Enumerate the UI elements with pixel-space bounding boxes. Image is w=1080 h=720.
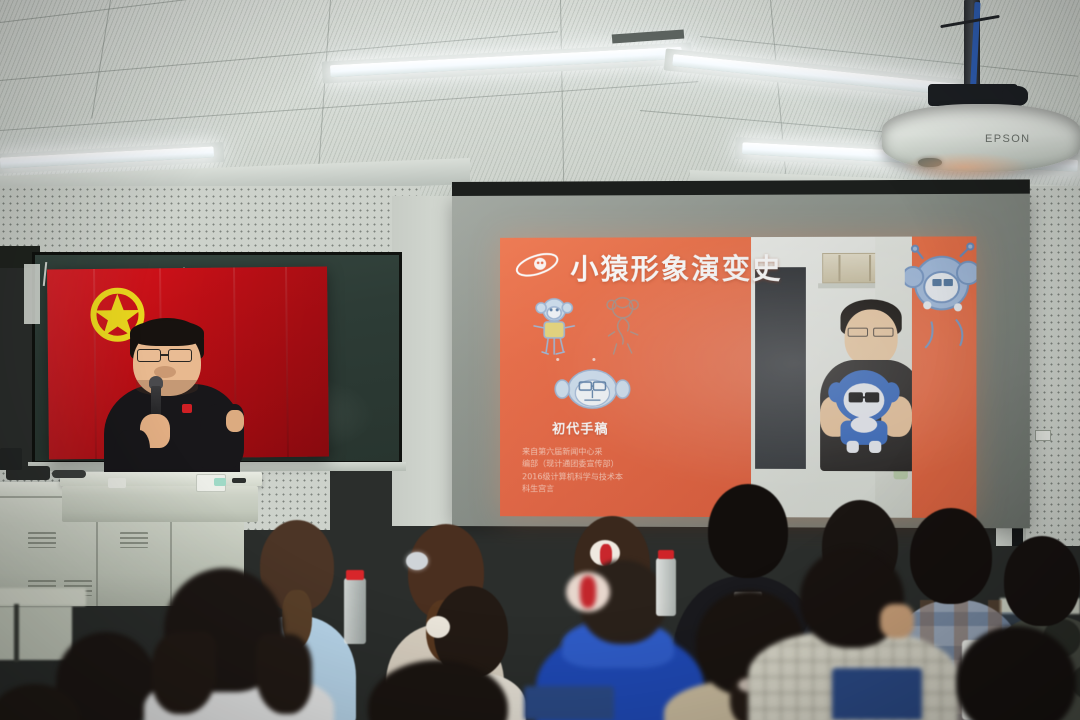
slide-credit-line: 来自第六届新闻中心采 bbox=[522, 446, 638, 459]
desk-sticker bbox=[214, 478, 226, 486]
video-person-glasses-left bbox=[848, 328, 868, 337]
presenter-glasses-left-lens bbox=[137, 349, 161, 362]
red-hair-tie bbox=[580, 576, 596, 608]
bottle-cap-red-2 bbox=[658, 550, 674, 559]
student-desk-left-leg bbox=[14, 604, 19, 662]
slide-credit-line: 2016级计算机科学与技术本 bbox=[522, 471, 638, 484]
lecture-hall-photo: EPSON bbox=[0, 0, 1080, 720]
sketch-monkey-line bbox=[600, 294, 644, 356]
student-front-bottom-center bbox=[368, 660, 508, 720]
hair-clip bbox=[406, 552, 428, 570]
video-person-glasses-right bbox=[873, 328, 893, 337]
desk-remote[interactable] bbox=[232, 478, 246, 483]
student-front-right bbox=[956, 626, 1080, 720]
desk-cable bbox=[52, 470, 86, 478]
projector-cable-bundle bbox=[1002, 86, 1028, 106]
slide-dot bbox=[592, 358, 595, 361]
chair-back-left bbox=[524, 686, 614, 720]
video-person bbox=[814, 299, 911, 471]
projector-lens-glow bbox=[900, 152, 1030, 182]
slide-credit-line: 科生宫言 bbox=[522, 483, 638, 496]
student-head-hair bbox=[0, 684, 80, 720]
student-desk-left bbox=[0, 588, 86, 606]
presenter-hand-on-hip bbox=[226, 410, 244, 432]
slide-caption: 初代手稿 bbox=[552, 418, 608, 437]
plush-monkey-with-glasses bbox=[828, 366, 899, 455]
desk-monitor-edge bbox=[0, 448, 22, 470]
projection-screen-roller bbox=[452, 179, 1030, 196]
slide-dot bbox=[556, 358, 559, 361]
presenter-glasses-right-lens bbox=[168, 349, 192, 362]
student-long-dark-hair-left bbox=[134, 568, 334, 720]
video-person-head bbox=[845, 309, 898, 366]
student-ear bbox=[880, 604, 914, 638]
scrunchie bbox=[426, 616, 450, 638]
student-bottom-left-corner bbox=[0, 684, 80, 720]
student-hair-left-fall bbox=[152, 632, 216, 714]
water-bottle-white[interactable] bbox=[656, 558, 676, 616]
sketch-monkey-color bbox=[526, 296, 582, 358]
presentation-slide: 小猿形象演变史 bbox=[500, 236, 976, 518]
presenter-glasses-bridge bbox=[160, 354, 169, 356]
mascot-monkey-blue bbox=[905, 242, 977, 353]
red-lapel-badge bbox=[182, 404, 192, 413]
presenter-hair-front bbox=[130, 320, 204, 346]
chair-back-right bbox=[832, 668, 922, 720]
student-head-hair bbox=[368, 660, 508, 720]
projection-screen: 小猿形象演变史 bbox=[452, 194, 1030, 529]
bottle-cap-red bbox=[346, 570, 364, 580]
slide-title: 小猿形象演变史 bbox=[570, 247, 782, 288]
student-head-hair bbox=[1004, 536, 1080, 626]
teacher-desk-front bbox=[62, 486, 258, 522]
presenter-chin-shadow bbox=[136, 380, 198, 396]
yuan-orbit-logo bbox=[514, 252, 560, 278]
video-doorway bbox=[755, 267, 806, 469]
slide-credit-block: 来自第六届新闻中心采 编部（现计通团委宣传部） 2016级计算机科学与技术本 科… bbox=[522, 446, 638, 496]
desk-paper-small bbox=[108, 478, 126, 488]
sketch-monkey-face bbox=[554, 368, 630, 410]
slide-credit-line: 编部（现计通团委宣传部） bbox=[522, 459, 638, 472]
wall-switch-plate[interactable] bbox=[1035, 430, 1051, 441]
wall-paper-strip bbox=[24, 264, 40, 324]
student-hair-right-fall bbox=[256, 634, 312, 714]
student-head-hair bbox=[956, 626, 1076, 720]
projector-brand-label: EPSON bbox=[985, 133, 1031, 145]
water-bottle-red-cap[interactable] bbox=[344, 578, 366, 644]
